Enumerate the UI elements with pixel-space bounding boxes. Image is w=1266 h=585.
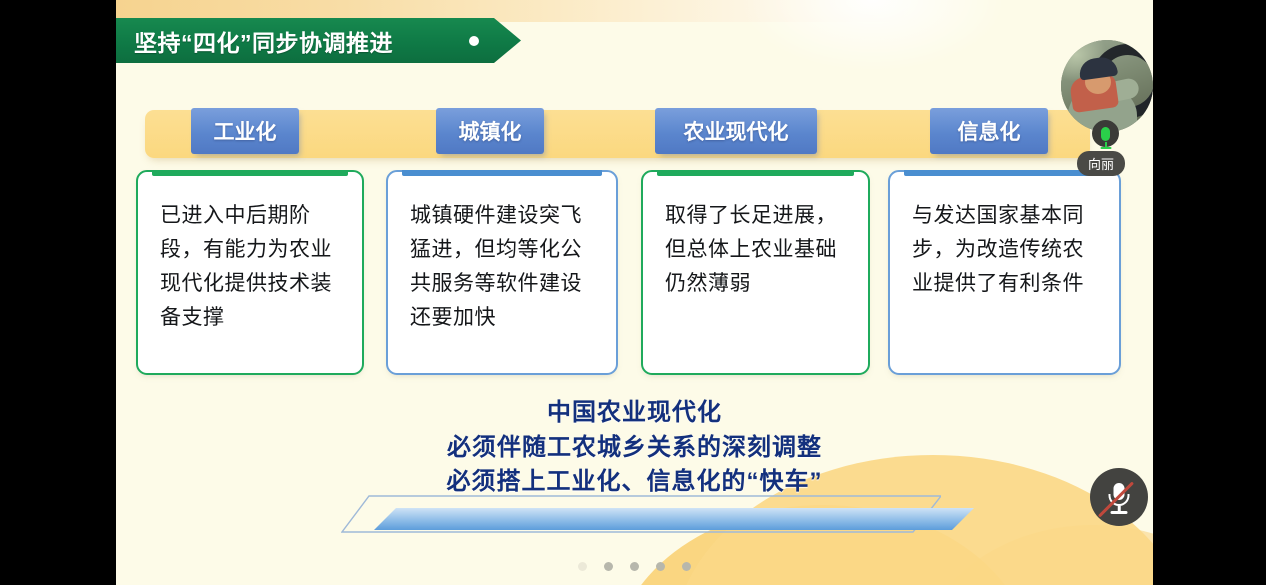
- column-tag-label: 信息化: [958, 116, 1021, 146]
- pagination-dot[interactable]: [656, 562, 665, 571]
- conclusion-line-1: 中国农业现代化: [116, 396, 1153, 431]
- ribbon-dot-icon: [469, 36, 479, 46]
- conclusion-block: 中国农业现代化 必须伴随工农城乡关系的深刻调整 必须搭上工业化、信息化的“快车”: [116, 396, 1153, 500]
- conclusion-line-3: 必须搭上工业化、信息化的“快车”: [116, 465, 1153, 500]
- participant-name-label: 向丽: [1077, 151, 1125, 176]
- pagination-dot[interactable]: [682, 562, 691, 571]
- pagination-dots[interactable]: [116, 562, 1153, 571]
- slide-stage: 坚持“四化”同步协调推进 工业化 城镇化 农业现代化 信息化 已进入中后期阶段，…: [116, 0, 1153, 585]
- card-text: 与发达国家基本同步，为改造传统农业提供了有利条件: [890, 172, 1119, 300]
- pagination-dot[interactable]: [630, 562, 639, 571]
- mic-base-shape: [1100, 147, 1111, 149]
- pagination-dot[interactable]: [578, 562, 587, 571]
- column-tag-label: 工业化: [214, 116, 277, 146]
- chevron-blue-decoration: [374, 508, 974, 530]
- participant-video-tile[interactable]: [1061, 40, 1153, 132]
- column-tag-label: 城镇化: [459, 116, 522, 146]
- slide-title: 坚持“四化”同步协调推进: [116, 24, 393, 58]
- mute-microphone-button[interactable]: [1090, 468, 1148, 526]
- mic-base-shape: [1111, 511, 1128, 514]
- mic-capsule-shape: [1101, 127, 1110, 141]
- pagination-dot[interactable]: [604, 562, 613, 571]
- card-top-accent: [904, 170, 1105, 176]
- content-card-informatization: 与发达国家基本同步，为改造传统农业提供了有利条件: [888, 170, 1121, 375]
- screen: 坚持“四化”同步协调推进 工业化 城镇化 农业现代化 信息化 已进入中后期阶段，…: [0, 0, 1266, 585]
- column-tag-agricultural-modernization: 农业现代化: [655, 108, 817, 154]
- top-glow-decoration: [743, 0, 1003, 70]
- column-tag-urbanization: 城镇化: [436, 108, 544, 154]
- content-card-industrialization: 已进入中后期阶段，有能力为农业现代化提供技术装备支撑: [136, 170, 364, 375]
- card-text: 取得了长足进展，但总体上农业基础仍然薄弱: [643, 172, 868, 300]
- card-text: 已进入中后期阶段，有能力为农业现代化提供技术装备支撑: [138, 172, 362, 334]
- card-top-accent: [657, 170, 854, 176]
- column-tag-industrialization: 工业化: [191, 108, 299, 154]
- card-top-accent: [152, 170, 348, 176]
- letterbox-left: [0, 0, 116, 585]
- column-tag-label: 农业现代化: [684, 116, 789, 146]
- content-card-agricultural-modernization: 取得了长足进展，但总体上农业基础仍然薄弱: [641, 170, 870, 375]
- conclusion-line-2: 必须伴随工农城乡关系的深刻调整: [116, 431, 1153, 466]
- content-card-urbanization: 城镇硬件建设突飞猛进，但均等化公共服务等软件建设还要加快: [386, 170, 618, 375]
- column-tag-informatization: 信息化: [930, 108, 1048, 154]
- slide-title-ribbon: 坚持“四化”同步协调推进: [116, 18, 521, 63]
- letterbox-right: [1153, 0, 1266, 585]
- card-text: 城镇硬件建设突飞猛进，但均等化公共服务等软件建设还要加快: [388, 172, 616, 334]
- microphone-active-icon: [1092, 120, 1119, 147]
- card-top-accent: [402, 170, 602, 176]
